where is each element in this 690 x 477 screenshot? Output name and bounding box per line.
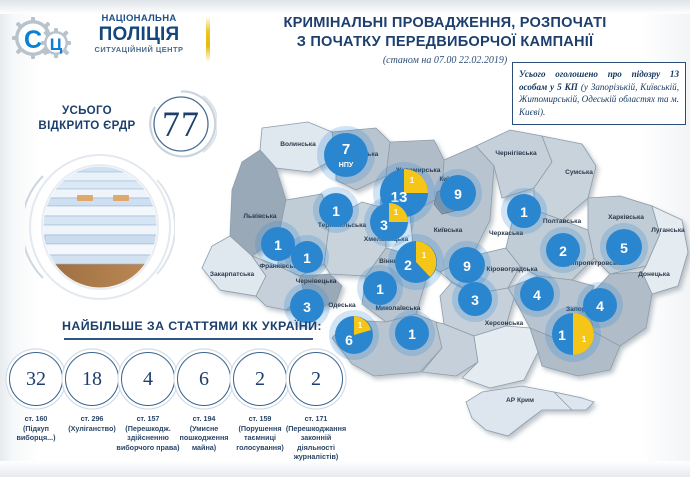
bubble-npu-value: 7 xyxy=(342,141,350,158)
stat-item-171[interactable]: 2 ст. 171 (Перешкоджання законній діяльн… xyxy=(288,352,344,462)
total-label-line-1: УСЬОГО xyxy=(22,103,152,118)
bubble-odeska-wedge-value: 1 xyxy=(358,321,363,330)
bubble-kharkivska[interactable]: 5 xyxy=(600,223,648,271)
total-label: УСЬОГО ВІДКРИТО ЄРДР xyxy=(22,103,152,133)
stat-article-157: ст. 157 xyxy=(137,414,160,424)
bubble-chernihivska[interactable]: 9 xyxy=(434,169,482,217)
stat-item-159[interactable]: 2 ст. 159 (Порушення таємниці голосуванн… xyxy=(232,352,288,462)
bubble-rivnenska[interactable]: 1 xyxy=(313,187,359,233)
stat-item-160[interactable]: 32 ст. 160 (Підкуп виборця...) xyxy=(8,352,64,462)
stat-ring-157: 4 xyxy=(121,352,175,406)
stat-article-296: ст. 296 xyxy=(81,414,104,424)
stat-value-160: 32 xyxy=(26,368,46,391)
bubble-npu[interactable]: 7 НПУ xyxy=(317,126,375,184)
region-label-chernihivska: Чернігівська xyxy=(495,149,537,157)
region-label-sumska: Сумська xyxy=(565,169,593,176)
region-label-kirovohradska: Кіровоградська xyxy=(486,265,537,273)
bubble-zaporizka-wedge-value: 1 xyxy=(582,335,587,344)
bubble-zaporizka-value: 1 xyxy=(558,327,566,343)
stats-rule xyxy=(64,338,313,340)
stat-article-194: ст. 194 xyxy=(193,414,216,424)
svg-text:С: С xyxy=(24,26,42,54)
stat-ring-194: 6 xyxy=(177,352,231,406)
region-label-donetska: Донецька xyxy=(638,271,670,278)
stat-ring-171: 2 xyxy=(289,352,343,406)
document-stack-photo xyxy=(25,150,175,300)
bubble-zhytomyrska-value: 3 xyxy=(380,217,388,233)
title-line-1: КРИМІНАЛЬНІ ПРОВАДЖЕННЯ, РОЗПОЧАТІ xyxy=(215,14,675,33)
situation-center-gear-logo-icon: С Ц xyxy=(12,16,76,60)
bubble-cherkaska-value: 9 xyxy=(463,258,471,274)
bubble-chernihivska-value: 9 xyxy=(454,186,462,202)
total-label-line-2: ВІДКРИТО ЄРДР xyxy=(22,118,152,133)
stat-desc-160: (Підкуп виборця...) xyxy=(4,424,68,443)
bubble-poltavska[interactable]: 2 xyxy=(540,227,586,273)
title-line-2: З ПОЧАТКУ ПЕРЕДВИБОРЧОЇ КАМПАНІЇ xyxy=(215,33,675,52)
stat-item-157[interactable]: 4 ст. 157 (Перешкодж. здійсненню виборчо… xyxy=(120,352,176,462)
bubble-donetska-value: 4 xyxy=(596,298,604,314)
bubble-ternopilska-value: 1 xyxy=(303,250,311,266)
logo-divider xyxy=(206,16,210,62)
bubble-npu-sub: НПУ xyxy=(339,162,354,169)
region-label-zakarpatska: Закарпатська xyxy=(210,271,255,278)
stat-article-160: ст. 160 xyxy=(25,414,48,424)
region-label-odeska: Одеська xyxy=(328,302,356,309)
region-label-volynska: Волинська xyxy=(280,141,316,148)
stat-desc-157: (Перешкодж. здійсненню виборчого права) xyxy=(116,424,180,453)
logo-line-2: ПОЛІЦІЯ xyxy=(74,25,204,44)
bubble-lvivska-value: 1 xyxy=(274,237,282,253)
stat-desc-194: (Умисне пошкодження майна) xyxy=(172,424,236,453)
background-top-band xyxy=(0,0,690,14)
page-title: КРИМІНАЛЬНІ ПРОВАДЖЕННЯ, РОЗПОЧАТІ З ПОЧ… xyxy=(215,14,675,66)
logo-wordmark: НАЦІОНАЛЬНА ПОЛІЦІЯ СИТУАЦІЙНИЙ ЦЕНТР xyxy=(74,14,204,53)
bubble-kyivska-value: 2 xyxy=(404,257,412,273)
bubble-chernivetska-value: 3 xyxy=(303,299,311,315)
bubble-kyivska-wedge-value: 1 xyxy=(422,251,427,260)
stat-value-194: 6 xyxy=(199,368,209,391)
stats-heading: НАЙБІЛЬШЕ ЗА СТАТТЯМИ КК УКРАЇНИ: xyxy=(62,319,322,333)
region-label-poltavska: Полтавська xyxy=(543,218,582,225)
bubble-zhytomyrska-wedge-value: 1 xyxy=(394,208,399,217)
stat-desc-296: (Хуліганство) xyxy=(60,424,124,434)
stat-item-194[interactable]: 6 ст. 194 (Умисне пошкодження майна) xyxy=(176,352,232,462)
region-label-kharkivska: Харківська xyxy=(608,213,644,221)
infographic-page: С Ц НАЦІОНАЛЬНА ПОЛІЦІЯ xyxy=(0,0,690,477)
stat-article-159: ст. 159 xyxy=(249,414,272,424)
bubble-rivnenska-value: 1 xyxy=(332,203,340,219)
bubble-sumska-value: 1 xyxy=(520,204,528,220)
stat-ring-296: 18 xyxy=(65,352,119,406)
bubble-poltavska-value: 2 xyxy=(559,243,567,259)
bubble-vinnytska[interactable]: 1 xyxy=(357,265,403,311)
region-label-lvivska: Львівська xyxy=(243,212,276,220)
bubble-mykolaivska[interactable]: 1 xyxy=(389,310,435,356)
stat-article-171: ст. 171 xyxy=(305,414,328,424)
region-label-luhanska: Луганська xyxy=(651,227,685,234)
bubble-sumska[interactable]: 1 xyxy=(501,188,547,234)
stat-value-157: 4 xyxy=(143,368,153,391)
bubble-ternopilska[interactable]: 1 xyxy=(285,235,329,279)
bubble-kharkivska-value: 5 xyxy=(620,240,628,256)
region-label-khersonska: Херсонська xyxy=(485,320,524,327)
bubble-odeska-value: 6 xyxy=(345,332,353,348)
stat-value-296: 18 xyxy=(82,368,102,391)
region-label-kyivska: Київська xyxy=(434,227,463,234)
bubble-zaporizka[interactable]: 1 1 xyxy=(545,306,601,362)
svg-text:Ц: Ц xyxy=(50,35,63,54)
stat-item-296[interactable]: 18 ст. 296 (Хуліганство) xyxy=(64,352,120,462)
stat-value-171: 2 xyxy=(311,368,321,391)
stat-desc-171: (Перешкоджання законній діяльності журна… xyxy=(284,424,348,462)
logo-line-1: НАЦІОНАЛЬНА xyxy=(74,14,204,24)
bubble-kirovohradska-value: 3 xyxy=(471,292,479,308)
bubble-vinnytska-value: 1 xyxy=(376,281,384,297)
bubble-dnipropetrovska[interactable]: 4 xyxy=(514,271,560,317)
stat-ring-159: 2 xyxy=(233,352,287,406)
logo-line-3: СИТУАЦІЙНИЙ ЦЕНТР xyxy=(74,46,204,53)
bubble-kirovohradska[interactable]: 3 xyxy=(452,276,498,322)
stat-desc-159: (Порушення таємниці голосування) xyxy=(228,424,292,453)
bubble-kyiv-city-wedge-value: 1 xyxy=(410,176,415,185)
police-logo: С Ц НАЦІОНАЛЬНА ПОЛІЦІЯ xyxy=(12,14,202,64)
stats-row: 32 ст. 160 (Підкуп виборця...) 18 ст. 29… xyxy=(8,352,348,462)
stat-value-159: 2 xyxy=(255,368,265,391)
bubble-mykolaivska-value: 1 xyxy=(408,326,416,342)
region-label-ar-krym: АР Крим xyxy=(506,397,534,404)
bubble-dnipropetrovska-value: 4 xyxy=(533,287,541,303)
stat-ring-160: 32 xyxy=(9,352,63,406)
